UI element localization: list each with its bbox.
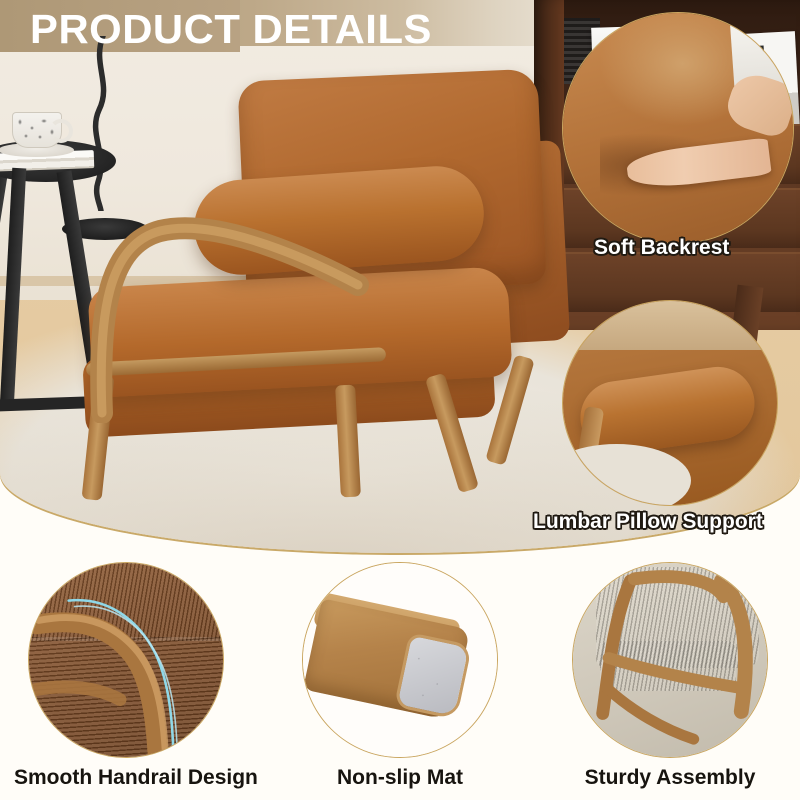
callout-label-soft-backrest: Soft Backrest [594,236,729,260]
chair-armrest [90,193,400,423]
mug-pattern [14,116,60,144]
armchair [90,55,590,495]
callout-image-sturdy-assembly [572,562,768,758]
armrest-curve-graphic [29,563,223,757]
callout-image-soft-backrest [562,12,794,244]
callout-label-sturdy-assembly: Sturdy Assembly [558,766,782,790]
callout-image-non-slip-mat [302,562,498,758]
page-title: PRODUCT DETAILS [30,6,432,53]
callout-label-non-slip-mat: Non-slip Mat [288,766,512,790]
frame-structure-graphic [573,563,767,757]
callout-image-smooth-handrail [28,562,224,758]
floor-strip [563,301,777,350]
callout-label-smooth-handrail: Smooth Handrail Design [14,766,238,790]
callout-image-lumbar-pillow [562,300,778,506]
callout-label-lumbar-pillow: Lumbar Pillow Support [533,510,763,534]
